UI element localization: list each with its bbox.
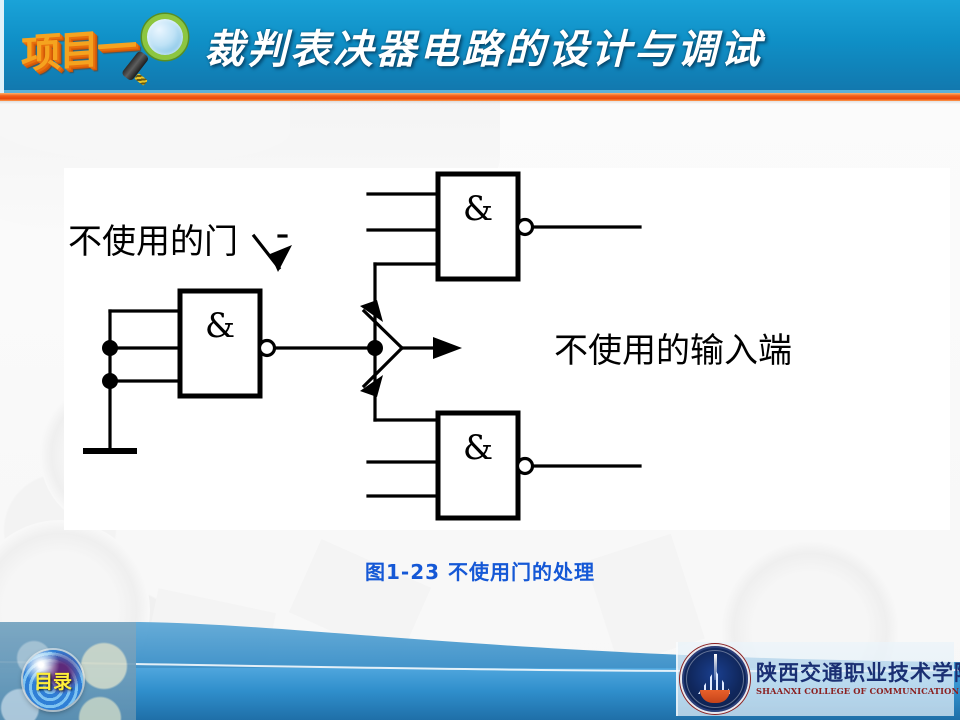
figure-panel: & & & 不使用的门 不使用的输入端 — [64, 168, 950, 530]
school-name-en: SHAANXI COLLEGE OF COMMUNICATION TECHNOL… — [756, 687, 960, 696]
header-accent-shadow — [0, 101, 960, 104]
unused-gate-arrowhead — [270, 245, 292, 272]
slide: 项目一 裁判表决器电路的设计与调试 — [0, 0, 960, 720]
junction-dot — [102, 373, 118, 389]
slide-header: 项目一 裁判表决器电路的设计与调试 — [0, 0, 960, 93]
unused-input-arrowhead-right — [433, 337, 462, 359]
toc-button-label: 目录 — [34, 667, 72, 694]
junction-dot — [367, 340, 383, 356]
project-badge: 项目一 — [18, 8, 138, 86]
gate-left-output-bubble — [260, 341, 275, 356]
school-name-cn: 陕西交通职业技术学院 — [756, 662, 960, 684]
school-seal-icon — [682, 646, 748, 712]
gate-left-symbol: & — [205, 306, 235, 346]
header-accent-bar — [0, 93, 960, 101]
unused-inputs-label: 不使用的输入端 — [554, 331, 792, 371]
gate-bottom-symbol: & — [463, 428, 493, 468]
circuit-diagram: & & & 不使用的门 不使用的输入端 — [64, 168, 950, 530]
gate-top-symbol: & — [463, 189, 493, 229]
page-title: 裁判表决器电路的设计与调试 — [204, 16, 944, 74]
junction-dot — [102, 340, 118, 356]
gate-bottom-output-bubble — [518, 459, 533, 474]
magnifier-icon — [132, 14, 204, 80]
unused-gate-label: 不使用的门 — [68, 222, 238, 262]
gate-top-output-bubble — [518, 220, 533, 235]
project-badge-label: 项目一 — [21, 14, 135, 80]
school-logo: 陕西交通职业技术学院 SHAANXI COLLEGE OF COMMUNICAT… — [676, 642, 954, 716]
figure-caption: 图1-23 不使用门的处理 — [0, 556, 960, 585]
toc-button[interactable]: 目录 — [23, 650, 83, 710]
